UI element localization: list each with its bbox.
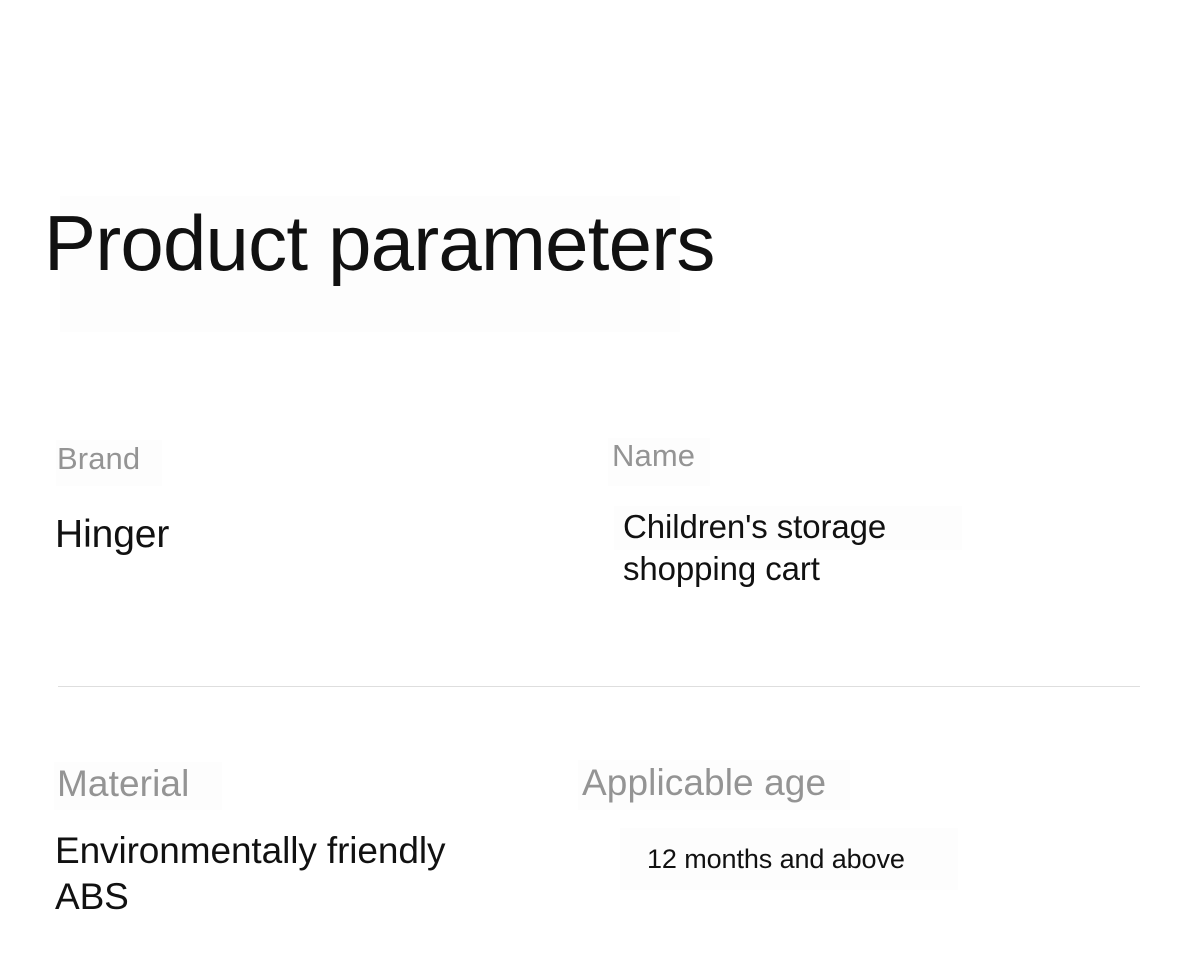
spec-label-applicable-age: Applicable age: [582, 761, 1002, 805]
spec-table: Brand Hinger Name Children's storage sho…: [0, 0, 1200, 968]
product-parameters-page: Product parameters Brand Hinger Name Chi…: [0, 0, 1200, 968]
spec-label-material: Material: [57, 762, 477, 806]
spec-row-divider: [58, 686, 1140, 687]
spec-cell-brand: Brand Hinger: [57, 440, 169, 558]
spec-cell-applicable-age: Applicable age 12 months and above: [582, 761, 1002, 876]
spec-value-brand: Hinger: [55, 512, 169, 558]
spec-value-applicable-age: 12 months and above: [647, 842, 1002, 876]
spec-value-name: Children's storage shopping cart: [623, 506, 992, 590]
spec-value-material: Environmentally friendly ABS: [55, 828, 477, 920]
spec-cell-name: Name Children's storage shopping cart: [612, 437, 992, 590]
spec-cell-material: Material Environmentally friendly ABS: [57, 762, 477, 920]
spec-label-brand: Brand: [57, 440, 169, 478]
spec-label-name: Name: [612, 437, 992, 475]
